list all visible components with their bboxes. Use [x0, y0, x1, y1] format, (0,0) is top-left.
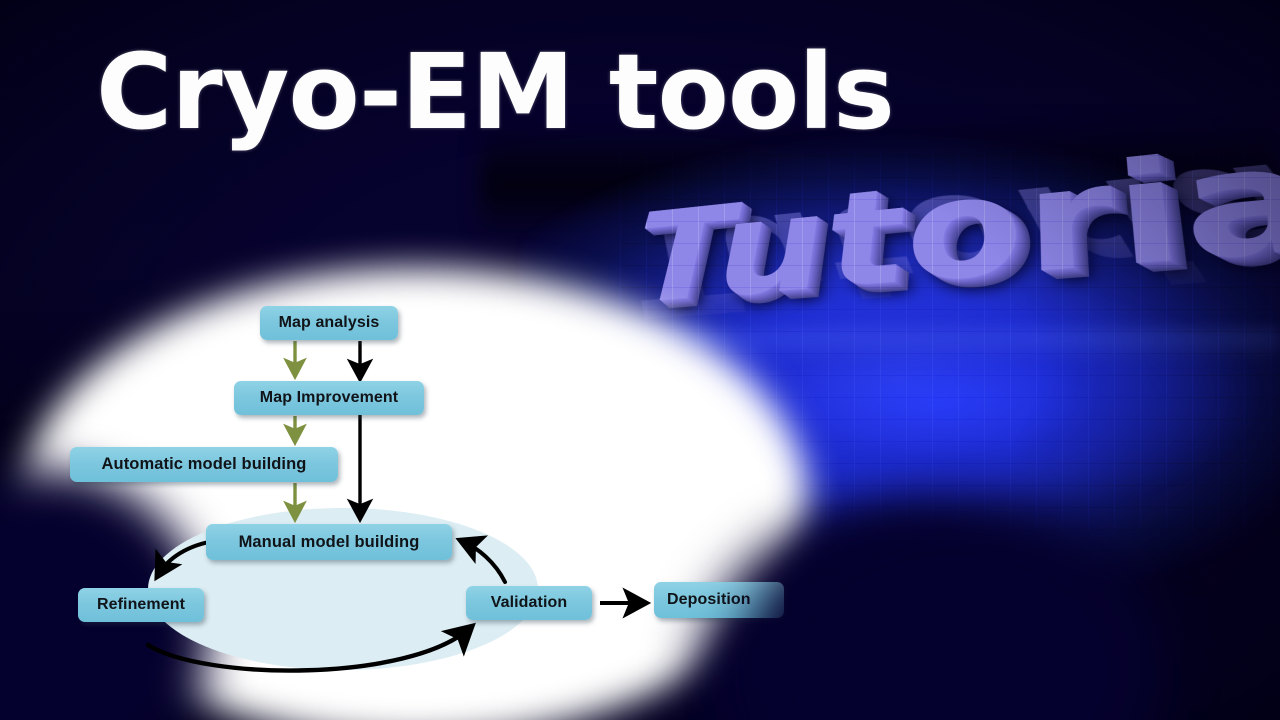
workflow-diagram: Map analysis Map Improvement Automatic m…: [0, 0, 840, 720]
node-automatic-model-building[interactable]: Automatic model building: [70, 447, 338, 482]
node-manual-model-building[interactable]: Manual model building: [206, 524, 452, 560]
arrow-validation-to-manual: [462, 541, 505, 582]
node-validation[interactable]: Validation: [466, 586, 592, 620]
node-map-analysis[interactable]: Map analysis: [260, 306, 398, 340]
node-map-improvement[interactable]: Map Improvement: [234, 381, 424, 415]
arrow-refinement-to-validation: [148, 628, 470, 671]
slide-canvas: Tutorial Tutorial Cryo-EM tools: [0, 0, 1280, 720]
node-refinement[interactable]: Refinement: [78, 588, 204, 622]
